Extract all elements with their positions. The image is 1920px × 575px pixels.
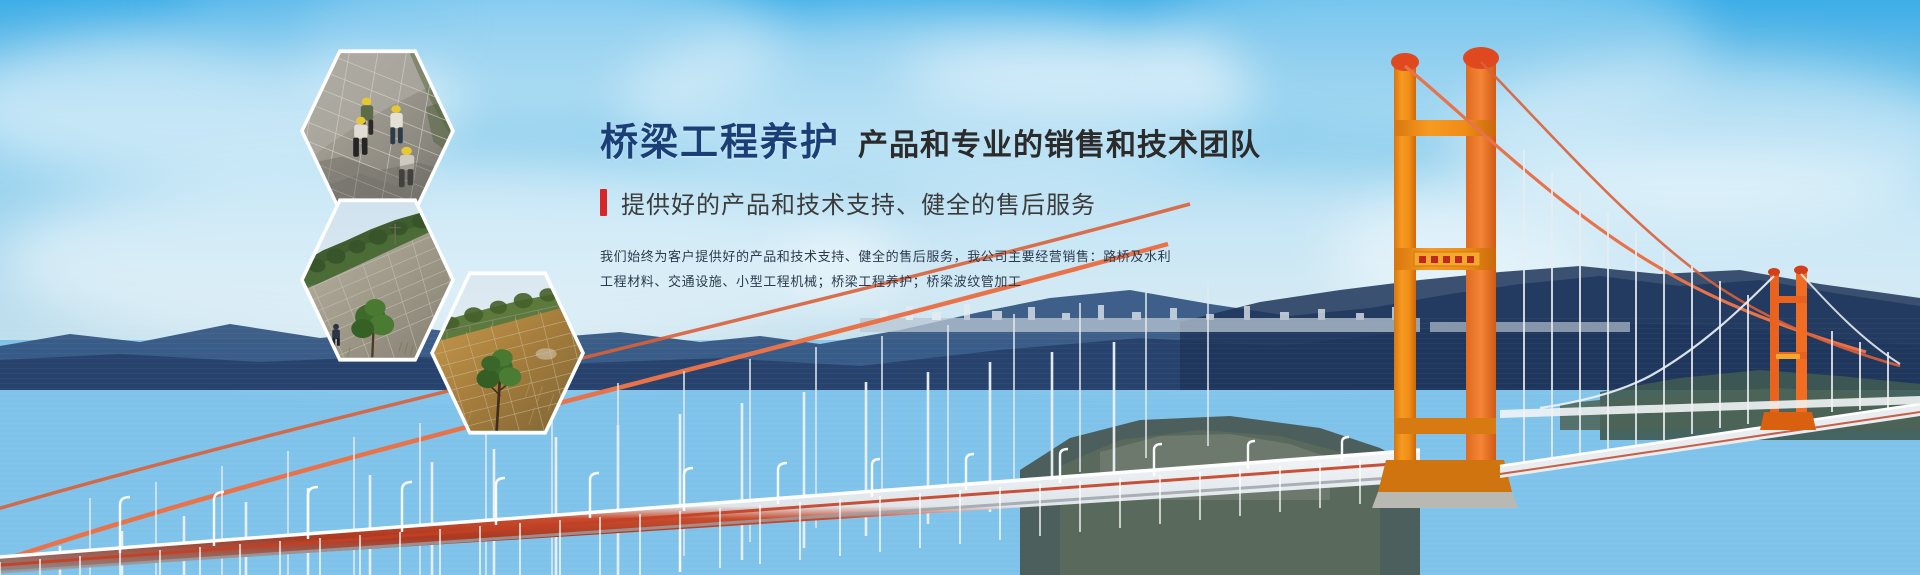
banner-body-text: 我们始终为客户提供好的产品和技术支持、健全的售后服务，我公司主要经营销售：路桥及… <box>600 244 1340 294</box>
subheadline-text: 提供好的产品和技术支持、健全的售后服务 <box>621 185 1096 220</box>
headline-primary: 桥梁工程养护 <box>600 124 840 162</box>
banner-copy-block: 桥梁工程养护 产品和专业的销售和技术团队 提供好的产品和技术支持、健全的售后服务… <box>600 124 1340 294</box>
red-accent-bar <box>600 189 607 216</box>
banner-headline: 桥梁工程养护 产品和专业的销售和技术团队 <box>600 124 1340 162</box>
body-line-1: 我们始终为客户提供好的产品和技术支持、健全的售后服务，我公司主要经营销售：路桥及… <box>600 244 1340 269</box>
headline-secondary: 产品和专业的销售和技术团队 <box>858 131 1261 161</box>
banner-subheadline-row: 提供好的产品和技术支持、健全的售后服务 <box>600 185 1340 220</box>
body-line-2: 工程材料、交通设施、小型工程机械；桥梁工程养护；桥梁波纹管加工 <box>600 269 1340 294</box>
hero-banner: 桥梁工程养护 产品和专业的销售和技术团队 提供好的产品和技术支持、健全的售后服务… <box>0 0 1920 575</box>
